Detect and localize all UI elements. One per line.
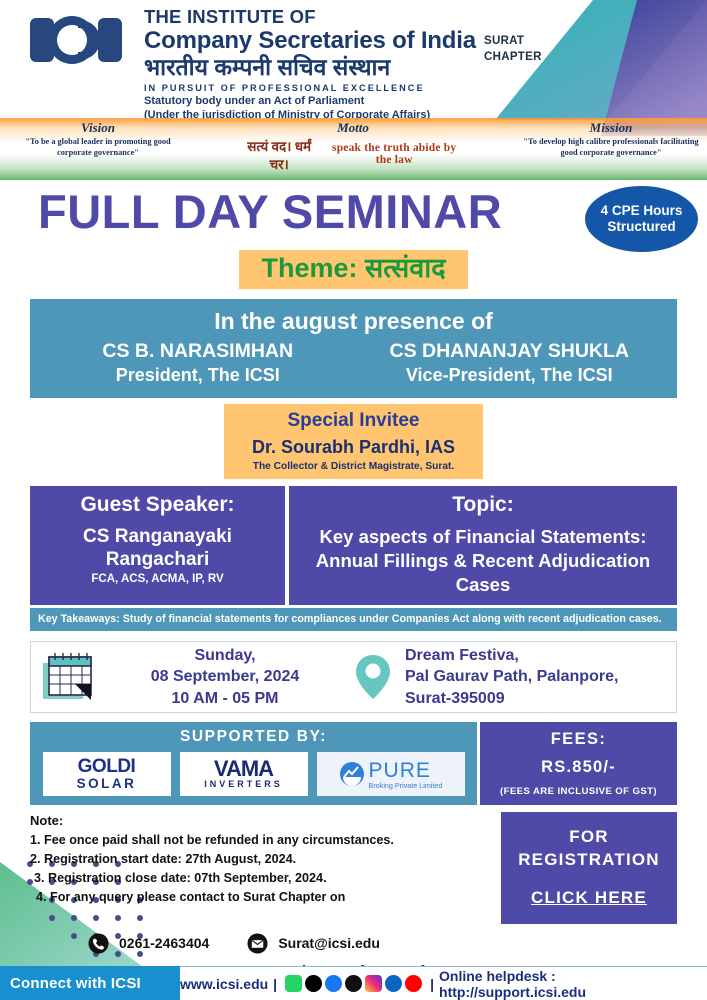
institute-line-1: THE INSTITUTE OF [144,8,476,27]
motto-english: speak the truth abide by the law [325,142,463,166]
fees-block: FEES: RS.850/- (FEES ARE INCLUSIVE OF GS… [480,722,677,805]
whatsapp-icon[interactable] [285,975,302,992]
presence-person: CS DHANANJAY SHUKLA Vice-President, The … [354,340,666,386]
sponsor-sub: SOLAR [77,777,137,791]
registration-line-1: FOR [507,826,671,849]
pure-mark-icon [339,761,365,787]
instagram-icon[interactable] [365,975,382,992]
note-item: 1. Fee once paid shall not be refunded i… [30,831,491,850]
institute-line-2: Company Secretaries of India [144,28,476,53]
cpe-line-2: Structured [607,219,675,235]
supported-by-block: SUPPORTED BY: GOLDI SOLAR VAMA INVERTERS [30,722,477,805]
speaker-topic-row: Guest Speaker: CS Ranganayaki Rangachari… [30,486,677,604]
note-item: 2. Registration start date: 27th August,… [30,850,491,869]
poster-root: THE INSTITUTE OF Company Secretaries of … [0,0,707,1000]
calendar-icon [41,651,97,703]
august-presence-block: In the august presence of CS B. NARASIMH… [30,299,677,398]
poster-header: THE INSTITUTE OF Company Secretaries of … [0,0,707,118]
venue-line-3: Surat-395009 [405,688,666,710]
presence-person-name: CS DHANANJAY SHUKLA [354,340,666,364]
cpe-hours-badge: 4 CPE Hours Structured [585,186,698,252]
sponsor-name: VAMA [204,759,283,780]
invitee-designation: The Collector & District Magistrate, Sur… [252,461,455,474]
institute-line-hindi: भारतीय कम्पनी सचिव संस्थान [144,55,476,80]
connect-with-icsi-label: Connect with ICSI [10,975,141,992]
fees-amount: RS.850/- [484,758,673,777]
event-day: Sunday, [105,645,345,667]
click-here-link[interactable]: CLICK HERE [507,888,671,908]
event-date: 08 September, 2024 [105,666,345,688]
sponsor-name: PURE [369,760,443,781]
guest-speaker-qualifications: FCA, ACS, ACMA, IP, RV [36,572,279,586]
venue-line-1: Dream Festiva, [405,645,666,667]
presence-person-role: President, The ICSI [42,364,354,387]
x-twitter-icon[interactable] [305,975,322,992]
motto-title: Motto [243,120,463,136]
icsi-logo-icon [26,12,130,68]
email-icon [247,933,268,954]
motto-block: Motto सत्यं वद। धर्मं चर। speak the trut… [243,120,463,173]
invitee-heading: Special Invitee [252,409,455,433]
topic-label: Topic: [295,492,671,518]
fees-note: (FEES ARE INCLUSIVE OF GST) [484,786,673,797]
date-venue-block: Sunday, 08 September, 2024 10 AM - 05 PM… [30,641,677,713]
note-item: 4. For any query please contact to Surat… [30,888,491,907]
chapter-line-2: CHAPTER [484,50,542,66]
mission-text: "To develop high calibre professionals f… [521,137,701,159]
page-title: FULL DAY SEMINAR [38,186,502,239]
title-row: FULL DAY SEMINAR 4 CPE Hours Structured [0,186,707,244]
linkedin-icon[interactable] [385,975,402,992]
special-invitee-row: Special Invitee Dr. Sourabh Pardhi, IAS … [0,404,707,479]
vision-text: "To be a global leader in promoting good… [8,137,188,159]
helpdesk-link[interactable]: Online helpdesk : http://support.icsi.ed… [439,968,699,1000]
footer-separator-1: | [273,976,277,992]
icsi-website-link[interactable]: www.icsi.edu [180,976,268,992]
chapter-line-1: SURAT [484,34,542,50]
contact-row: 0261-2463404 Surat@icsi.edu [88,933,707,954]
guest-speaker-label: Guest Speaker: [36,492,279,518]
presence-person-role: Vice-President, The ICSI [354,364,666,387]
threads-icon[interactable] [345,975,362,992]
registration-button[interactable]: FOR REGISTRATION CLICK HERE [501,812,677,924]
email-address: Surat@icsi.edu [278,935,380,951]
phone-number: 0261-2463404 [119,935,209,951]
supported-by-heading: SUPPORTED BY: [38,728,469,746]
event-time: 10 AM - 05 PM [105,688,345,710]
theme-row: Theme: सत्संवाद [0,250,707,289]
invitee-name: Dr. Sourabh Pardhi, IAS [252,436,455,459]
statutory-body-line: Statutory body under an Act of Parliamen… [144,95,476,108]
presence-person: CS B. NARASIMHAN President, The ICSI [42,340,354,386]
presence-heading: In the august presence of [42,308,665,335]
sponsor-name: GOLDI [77,758,137,777]
sponsor-logo-goldi: GOLDI SOLAR [43,752,171,796]
mission-title: Mission [521,120,701,136]
key-takeaways-strip: Key Takeaways: Study of financial statem… [30,608,677,631]
sponsor-logo-vama: VAMA INVERTERS [180,752,308,796]
venue-line-2: Pal Gaurav Path, Palanpore, [405,666,666,688]
registration-line-2: REGISTRATION [507,849,671,872]
supporters-fees-row: SUPPORTED BY: GOLDI SOLAR VAMA INVERTERS [30,722,677,805]
sponsor-sub: Broking Private Limited [369,782,443,789]
mission-block: Mission "To develop high calibre profess… [521,120,701,159]
youtube-icon[interactable] [405,975,422,992]
sponsor-logo-pure: PURE Broking Private Limited [317,752,465,796]
vision-block: Vision "To be a global leader in promoti… [8,120,188,159]
cpe-line-1: 4 CPE Hours [601,203,683,219]
institute-tagline: IN PURSUIT OF PROFESSIONAL EXCELLENCE [144,83,476,93]
fees-heading: FEES: [484,730,673,749]
notes-heading: Note: [30,812,491,831]
notes-block: Note: 1. Fee once paid shall not be refu… [30,812,491,924]
guest-speaker-name: CS Ranganayaki Rangachari [36,525,279,573]
theme-banner: Theme: सत्संवाद [239,250,467,289]
phone-icon [88,933,109,954]
vision-motto-mission-band: Vision "To be a global leader in promoti… [0,118,707,180]
event-date-text: Sunday, 08 September, 2024 10 AM - 05 PM [105,645,345,710]
vision-title: Vision [8,120,188,136]
topic-line-2: Annual Fillings & Recent Adjudication Ca… [295,549,671,597]
facebook-icon[interactable] [325,975,342,992]
sponsor-sub: INVERTERS [204,780,283,789]
topic-block: Topic: Key aspects of Financial Statemen… [289,486,677,604]
chapter-label: SURAT CHAPTER [484,34,542,65]
social-icons-group [285,975,422,992]
special-invitee-block: Special Invitee Dr. Sourabh Pardhi, IAS … [224,404,483,479]
footer-separator-2: | [430,976,434,992]
map-pin-icon [353,653,393,701]
poster-footer: Connect with ICSI www.icsi.edu | | Onlin… [0,966,707,1000]
motto-sanskrit: सत्यं वद। धर्मं चर। [243,137,315,173]
guest-speaker-block: Guest Speaker: CS Ranganayaki Rangachari… [30,486,285,604]
topic-line-1: Key aspects of Financial Statements: [295,525,671,549]
event-venue-text: Dream Festiva, Pal Gaurav Path, Palanpor… [401,645,666,710]
presence-person-name: CS B. NARASIMHAN [42,340,354,364]
notes-registration-row: Note: 1. Fee once paid shall not be refu… [30,812,677,924]
footer-links-row: www.icsi.edu | | Online helpdesk : http:… [180,966,707,1000]
note-item: 3. Registration close date: 07th Septemb… [30,869,491,888]
